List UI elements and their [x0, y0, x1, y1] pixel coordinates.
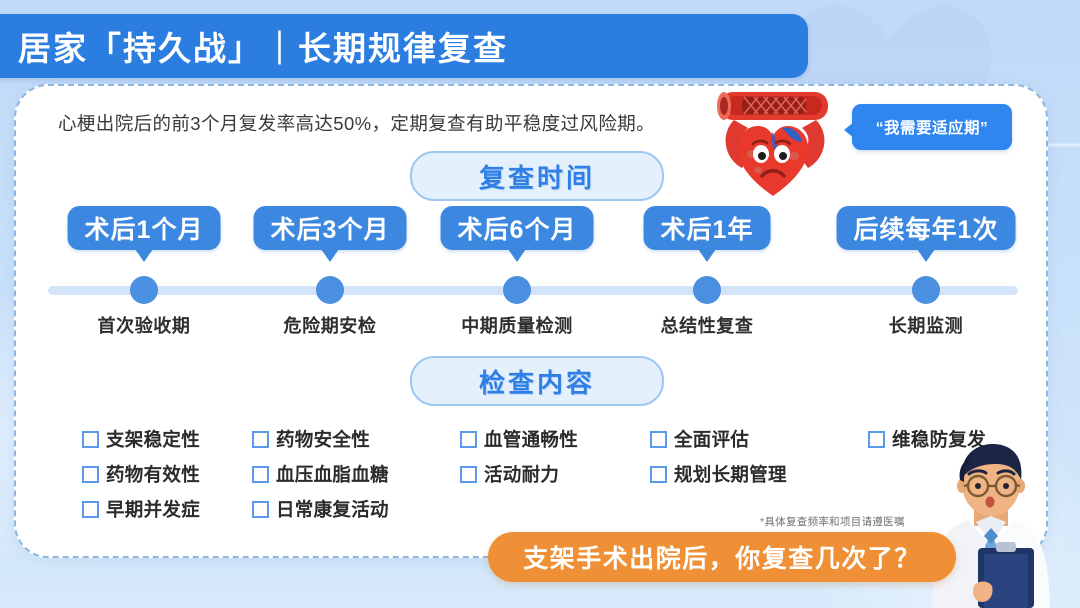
timeline-dot: [503, 276, 531, 304]
checklist-item-label: 规划长期管理: [674, 461, 787, 487]
speech-bubble-text: “我需要适应期”: [876, 116, 989, 138]
timeline-dot: [912, 276, 940, 304]
infographic-canvas: 居家「持久战」｜长期规律复查 心梗出院后的前3个月复发率高达50%，定期复查有助…: [0, 0, 1080, 608]
timeline-pill-tail: [321, 249, 339, 262]
checklist-item[interactable]: 药物安全性: [252, 426, 389, 452]
timeline-pill[interactable]: 术后3个月: [254, 206, 407, 250]
timeline-dot: [693, 276, 721, 304]
checklist-item[interactable]: 早期并发症: [82, 496, 200, 522]
cta-text: 支架手术出院后，你复查几次了？: [523, 539, 921, 575]
cta-banner[interactable]: 支架手术出院后，你复查几次了？: [488, 532, 956, 582]
timeline-dot: [130, 276, 158, 304]
timeline-node-label: 总结性复查: [661, 312, 754, 338]
checklist-item[interactable]: 药物有效性: [82, 461, 200, 487]
timeline-track: [48, 286, 1018, 295]
checklist-column: 血管通畅性 活动耐力: [460, 426, 578, 496]
page-title: 居家「持久战」｜长期规律复查: [18, 22, 508, 70]
checklist-item[interactable]: 血压血脂血糖: [252, 461, 389, 487]
timeline-pill-label: 后续每年1次: [854, 210, 999, 246]
timeline-pill-label: 术后1个月: [85, 210, 204, 246]
timeline-pill-tail: [135, 249, 153, 262]
checkbox-icon[interactable]: [82, 501, 99, 518]
checklist-item-label: 全面评估: [674, 426, 749, 452]
checklist-column: 全面评估 规划长期管理: [650, 426, 787, 496]
timeline-pill[interactable]: 术后6个月: [441, 206, 594, 250]
checklist-item[interactable]: 规划长期管理: [650, 461, 787, 487]
section-header-review-time-label: 复查时间: [479, 158, 595, 195]
header-bar: 居家「持久战」｜长期规律复查: [0, 14, 808, 78]
section-header-review-time: 复查时间: [410, 151, 664, 201]
speech-bubble: “我需要适应期”: [852, 104, 1012, 150]
checkbox-icon[interactable]: [252, 466, 269, 483]
doctor-illustration-icon: [916, 442, 1066, 608]
timeline-pill[interactable]: 术后1个月: [68, 206, 221, 250]
sad-heart-mascot-icon: [706, 76, 840, 204]
section-header-exam-content-label: 检查内容: [479, 363, 595, 400]
timeline-pill[interactable]: 后续每年1次: [837, 206, 1016, 250]
main-content-card: 心梗出院后的前3个月复发率高达50%，定期复查有助平稳度过风险期。 复查时间 术…: [14, 84, 1048, 558]
checkbox-icon[interactable]: [650, 466, 667, 483]
checklist-item-label: 活动耐力: [484, 461, 559, 487]
checklist-item[interactable]: 活动耐力: [460, 461, 578, 487]
timeline-node-label: 危险期安检: [284, 312, 377, 338]
checklist-item-label: 血管通畅性: [484, 426, 578, 452]
checklist-item-label: 早期并发症: [106, 496, 200, 522]
checklist-item-label: 药物有效性: [106, 461, 200, 487]
checklist-item-label: 支架稳定性: [106, 426, 200, 452]
checkbox-icon[interactable]: [252, 501, 269, 518]
checklist-item-label: 血压血脂血糖: [276, 461, 389, 487]
checkbox-icon[interactable]: [460, 466, 477, 483]
timeline-pill-label: 术后1年: [661, 210, 754, 246]
checkbox-icon[interactable]: [82, 431, 99, 448]
checklist-item-label: 药物安全性: [276, 426, 370, 452]
checkbox-icon[interactable]: [82, 466, 99, 483]
checklist-item-label: 日常康复活动: [276, 496, 389, 522]
checklist-item[interactable]: 支架稳定性: [82, 426, 200, 452]
footnote: *具体复查频率和项目请遵医嘱: [760, 514, 905, 529]
checklist-column: 药物安全性 血压血脂血糖 日常康复活动: [252, 426, 389, 531]
checklist-item[interactable]: 全面评估: [650, 426, 787, 452]
checklist: 支架稳定性 药物有效性 早期并发症 药物安全性: [56, 426, 1016, 516]
timeline-pill[interactable]: 术后1年: [644, 206, 771, 250]
intro-text: 心梗出院后的前3个月复发率高达50%，定期复查有助平稳度过风险期。: [58, 110, 655, 136]
timeline-node-label: 中期质量检测: [461, 312, 573, 338]
timeline-pill-tail: [698, 249, 716, 262]
timeline-pill-tail: [508, 249, 526, 262]
section-header-exam-content: 检查内容: [410, 356, 664, 406]
checkbox-icon[interactable]: [460, 431, 477, 448]
checkbox-icon[interactable]: [868, 431, 885, 448]
timeline-node-label: 长期监测: [889, 312, 963, 338]
timeline-pill-tail: [917, 249, 935, 262]
timeline-node-label: 首次验收期: [98, 312, 191, 338]
checklist-item[interactable]: 血管通畅性: [460, 426, 578, 452]
timeline-pill-label: 术后3个月: [271, 210, 390, 246]
checklist-item[interactable]: 日常康复活动: [252, 496, 389, 522]
checkbox-icon[interactable]: [650, 431, 667, 448]
checklist-column: 支架稳定性 药物有效性 早期并发症: [82, 426, 200, 531]
timeline-pill-label: 术后6个月: [458, 210, 577, 246]
timeline-dot: [316, 276, 344, 304]
checkbox-icon[interactable]: [252, 431, 269, 448]
timeline: 术后1个月 首次验收期 术后3个月 危险期安检 术后6个月: [42, 206, 1024, 336]
